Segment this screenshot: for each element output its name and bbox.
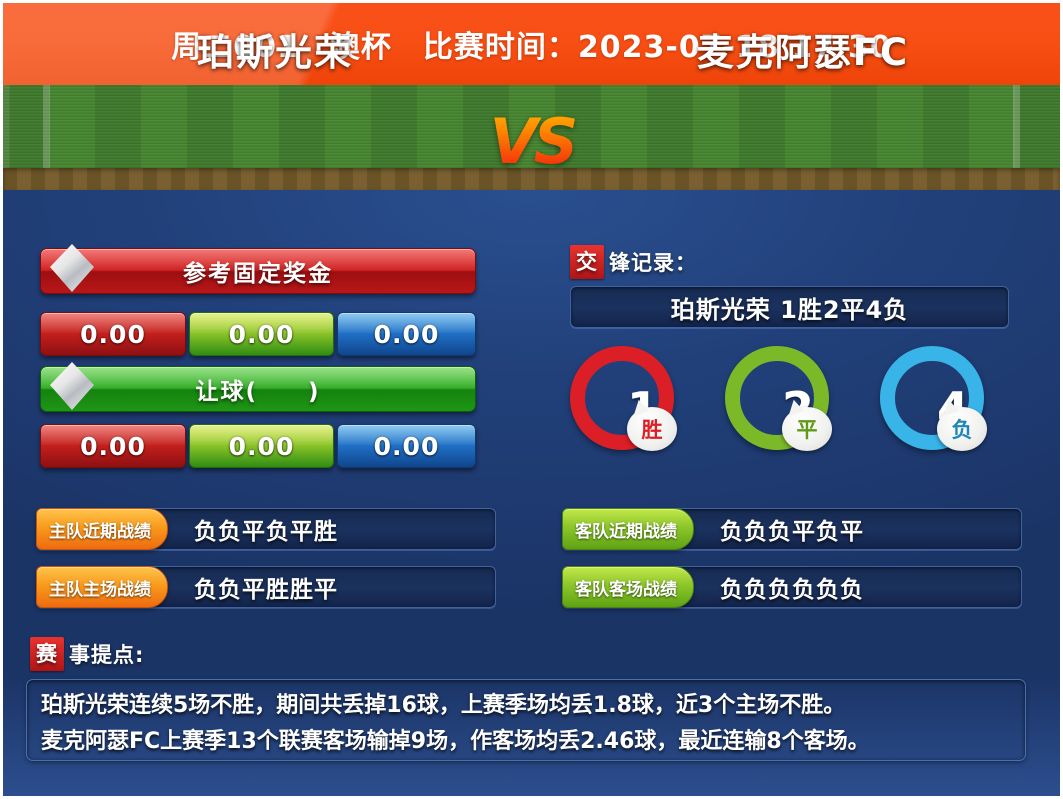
vs-icon: VS bbox=[484, 92, 580, 190]
away-recent-form-tag: 客队近期战绩 bbox=[562, 508, 694, 550]
tips-box: 珀斯光荣连续5场不胜，期间共丢掉16球，上赛季场均丢1.8球，近3个主场不胜。 … bbox=[26, 679, 1026, 761]
handicap-title: 让球( ) bbox=[195, 372, 320, 406]
h2h-summary: 珀斯光荣 1胜2平4负 bbox=[570, 286, 1009, 328]
home-team-name: 珀斯光荣 bbox=[110, 0, 440, 98]
handicap-away-button[interactable]: 0.00 bbox=[337, 424, 476, 468]
h2h-draw-badge: 平 bbox=[782, 407, 832, 451]
away-team-name: 麦克阿瑟FC bbox=[613, 0, 993, 98]
handicap-draw-button[interactable]: 0.00 bbox=[189, 424, 334, 468]
match-preview-card: 周二001 澳杯 比赛时间：2023-07-18 17:30 珀斯光荣 麦克阿瑟… bbox=[0, 0, 1063, 799]
home-home-form-tag: 主队主场战绩 bbox=[36, 566, 168, 608]
handicap-home-button[interactable]: 0.00 bbox=[40, 424, 186, 468]
tips-line-1: 珀斯光荣连续5场不胜，期间共丢掉16球，上赛季场均丢1.8球，近3个主场不胜。 bbox=[41, 688, 1011, 724]
h2h-label-text: 锋记录： bbox=[609, 247, 697, 277]
handicap-header: 让球( ) bbox=[40, 366, 476, 412]
fixed-odds-header: 参考固定奖金 bbox=[40, 248, 476, 294]
fixed-odds-draw-button[interactable]: 0.00 bbox=[189, 312, 334, 356]
tips-label-text: 事提点: bbox=[69, 639, 144, 669]
h2h-ring-win: 1 胜 bbox=[570, 346, 674, 450]
h2h-ring-lose: 4 负 bbox=[880, 346, 984, 450]
h2h-win-badge: 胜 bbox=[627, 407, 677, 451]
tips-badge-icon: 赛 bbox=[30, 637, 64, 671]
away-away-form-tag: 客队客场战绩 bbox=[562, 566, 694, 608]
fixed-odds-title: 参考固定奖金 bbox=[183, 254, 333, 288]
tips-line-2: 麦克阿瑟FC上赛季13个联赛客场输掉9场，作客场均丢2.46球，最近连输8个客场… bbox=[41, 724, 1011, 760]
fixed-odds-away-button[interactable]: 0.00 bbox=[337, 312, 476, 356]
h2h-lose-badge: 负 bbox=[937, 407, 987, 451]
home-recent-form-tag: 主队近期战绩 bbox=[36, 508, 168, 550]
h2h-ring-draw: 2 平 bbox=[725, 346, 829, 450]
tips-label: 赛 事提点: bbox=[30, 637, 144, 671]
fixed-odds-home-button[interactable]: 0.00 bbox=[40, 312, 186, 356]
head-to-head-label: 交 锋记录： bbox=[570, 245, 697, 279]
h2h-badge-icon: 交 bbox=[570, 245, 604, 279]
